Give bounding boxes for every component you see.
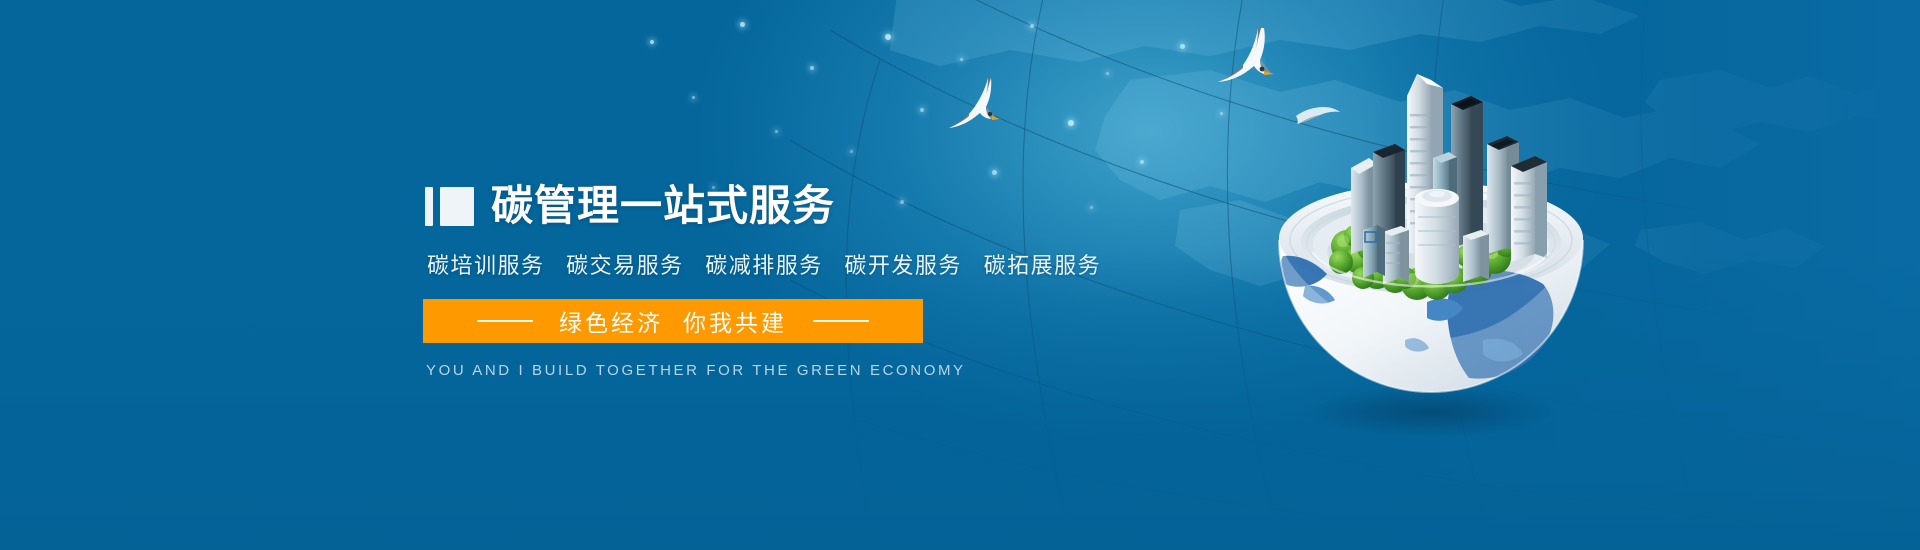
hero-banner: 碳管理一站式服务 碳培训服务 碳交易服务 碳减排服务 碳开发服务 碳拓展服务 绿… [0,0,1920,550]
banner-text-block: 碳管理一站式服务 碳培训服务 碳交易服务 碳减排服务 碳开发服务 碳拓展服务 绿… [425,180,1065,379]
service-item-0: 碳培训服务 [427,253,545,278]
slogan-part-1: 绿色经济 [559,310,663,336]
slogan-part-2: 你我共建 [683,310,787,336]
ribbon-left-rule-icon [477,320,533,322]
ribbon-right-rule-icon [813,320,869,322]
service-item-2: 碳减排服务 [705,253,823,278]
service-item-4: 碳拓展服务 [984,253,1102,278]
service-item-3: 碳开发服务 [844,253,962,278]
service-list: 碳培训服务 碳交易服务 碳减排服务 碳开发服务 碳拓展服务 [425,248,1065,280]
headline-row: 碳管理一站式服务 [425,180,1065,232]
bar-square-mark-icon [425,187,474,226]
english-tagline: YOU AND I BUILD TOGETHER FOR THE GREEN E… [426,362,1065,379]
ribbon-slogan: 绿色经济你我共建 [559,304,787,338]
slogan-ribbon: 绿色经济你我共建 [423,299,923,343]
service-item-1: 碳交易服务 [566,253,684,278]
seagull-icon [944,70,1022,140]
page-title: 碳管理一站式服务 [491,185,835,227]
earth-hemisphere-with-city-icon [1255,40,1595,440]
